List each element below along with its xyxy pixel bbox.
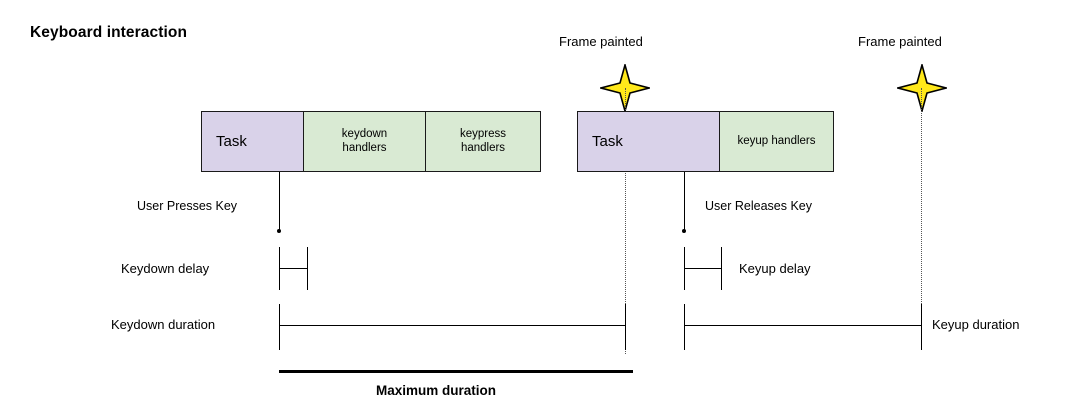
page-title: Keyboard interaction — [30, 24, 187, 42]
keyup-duration-end-tick — [921, 304, 922, 350]
user-presses-key-leader — [279, 172, 280, 231]
user-releases-key-leader — [684, 172, 685, 231]
keydown-duration-end-tick — [625, 304, 626, 350]
task-bar-1-label: Task — [216, 133, 247, 151]
keyup-duration-label: Keyup duration — [932, 317, 1019, 332]
user-presses-key-dot — [277, 229, 281, 233]
keypress-handlers-label: keypress handlers — [460, 128, 506, 155]
keyup-delay-label: Keyup delay — [739, 261, 811, 276]
keyup-delay-span — [684, 268, 722, 269]
keydown-handlers-label: keydown handlers — [342, 128, 387, 155]
keyboard-interaction-diagram: Keyboard interaction Frame painted Frame… — [0, 0, 1080, 420]
keypress-handlers-bar: keypress handlers — [425, 111, 541, 172]
keydown-duration-span — [279, 325, 626, 326]
user-presses-key-label: User Presses Key — [137, 199, 237, 213]
keyup-duration-span — [684, 325, 922, 326]
frame-painted-label-2: Frame painted — [858, 34, 942, 49]
keyup-handlers-label: keyup handlers — [738, 135, 816, 149]
keydown-delay-label: Keydown delay — [121, 261, 209, 276]
frame-painted-label-1: Frame painted — [559, 34, 643, 49]
task-bar-2: Task — [577, 111, 720, 172]
keyup-handlers-bar: keyup handlers — [719, 111, 834, 172]
keydown-delay-span — [279, 268, 308, 269]
user-releases-key-label: User Releases Key — [705, 199, 812, 213]
keyup-duration-start-tick — [684, 304, 685, 350]
keydown-handlers-bar: keydown handlers — [303, 111, 426, 172]
user-releases-key-dot — [682, 229, 686, 233]
task-bar-1: Task — [201, 111, 304, 172]
maximum-duration-label: Maximum duration — [376, 383, 496, 398]
star-icon — [897, 64, 947, 112]
keydown-duration-label: Keydown duration — [111, 317, 215, 332]
maximum-duration-bar — [279, 370, 633, 373]
keydown-duration-start-tick — [279, 304, 280, 350]
task-bar-2-label: Task — [592, 133, 623, 151]
